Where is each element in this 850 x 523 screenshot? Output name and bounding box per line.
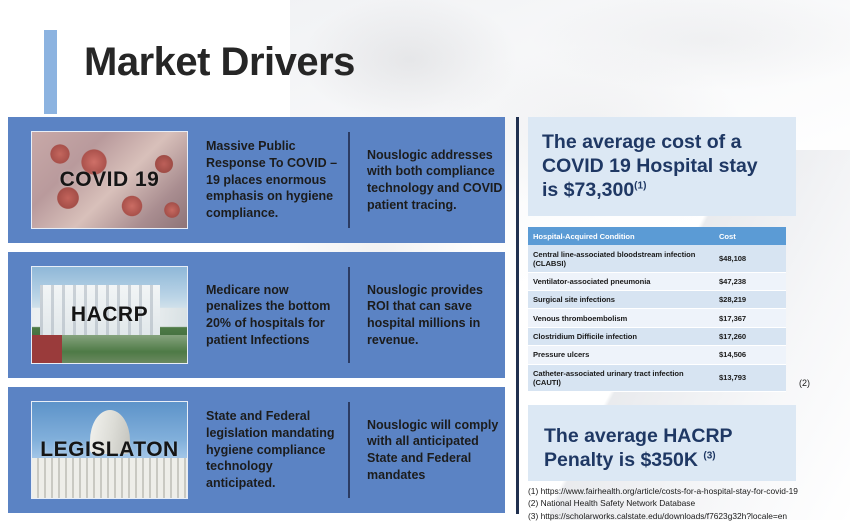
covid-cost-superscript: (1) — [634, 180, 646, 191]
covid-cost-line-3: is $73,300 — [542, 179, 634, 201]
covid-cost-line-1: The average cost of a — [542, 131, 741, 153]
footnote-3[interactable]: (3) https://scholarworks.calstate.edu/do… — [528, 510, 850, 523]
table-header-row: Hospital-Acquired Condition Cost — [528, 227, 786, 245]
column-header-cost: Cost — [714, 227, 786, 245]
footnote-1[interactable]: (1) https://www.fairhealth.org/article/c… — [528, 485, 850, 498]
hospital-acquired-condition-cost-table: Hospital-Acquired Condition Cost Central… — [528, 227, 786, 392]
table-row: Catheter-associated urinary tract infect… — [528, 364, 786, 391]
table-row: Central line-associated bloodstream infe… — [528, 245, 786, 272]
thumb-label: LEGISLATON — [40, 438, 178, 462]
table-row: Ventilator-associated pneumonia $47,238 — [528, 272, 786, 290]
footnotes-list: (1) https://www.fairhealth.org/article/c… — [528, 485, 850, 523]
cell-cost: $47,238 — [714, 272, 786, 290]
slide-header: Market Drivers — [0, 0, 850, 115]
driver-description: State and Federal legislation mandating … — [206, 408, 344, 491]
covid-cost-line-2: COVID 19 Hospital stay — [542, 155, 758, 177]
hacrp-line-2: Penalty is $350K — [544, 449, 698, 471]
driver-card-hacrp[interactable]: HACRP Medicare now penalizes the bottom … — [8, 252, 505, 378]
cell-cost: $48,108 — [714, 245, 786, 272]
cell-condition: Clostridium Difficile infection — [528, 327, 714, 345]
cell-cost: $17,260 — [714, 327, 786, 345]
column-separator — [516, 117, 519, 514]
covid-cost-stat-box: The average cost of a COVID 19 Hospital … — [528, 117, 796, 216]
hacrp-line-1: The average HACRP — [544, 425, 733, 447]
driver-solution: Nouslogic provides ROI that can save hos… — [367, 282, 507, 349]
table-row: Venous thromboembolism $17,367 — [528, 309, 786, 327]
hospital-building-photo: HACRP — [31, 266, 188, 364]
driver-divider — [348, 402, 350, 498]
hacrp-penalty-stat-text: The average HACRP Penalty is $350K (3) — [544, 425, 784, 473]
table-footnote-marker: (2) — [799, 378, 810, 388]
covid-cost-stat-text: The average cost of a COVID 19 Hospital … — [542, 131, 784, 202]
table-row: Surgical site infections $28,219 — [528, 291, 786, 309]
covid-virus-photo: COVID 19 — [31, 131, 188, 229]
column-header-condition: Hospital-Acquired Condition — [528, 227, 714, 245]
thumb-label: HACRP — [71, 303, 148, 327]
hacrp-penalty-stat-box: The average HACRP Penalty is $350K (3) — [528, 405, 796, 481]
page-title: Market Drivers — [84, 40, 355, 85]
table-row: Clostridium Difficile infection $17,260 — [528, 327, 786, 345]
driver-card-legislation[interactable]: LEGISLATON State and Federal legislation… — [8, 387, 505, 513]
statistics-panel: The average cost of a COVID 19 Hospital … — [528, 117, 850, 523]
cell-condition: Pressure ulcers — [528, 346, 714, 364]
table-row: Pressure ulcers $14,506 — [528, 346, 786, 364]
thumb-label: COVID 19 — [60, 168, 160, 192]
cell-condition: Catheter-associated urinary tract infect… — [528, 364, 714, 391]
cell-condition: Central line-associated bloodstream infe… — [528, 245, 714, 272]
us-capitol-photo: LEGISLATON — [31, 401, 188, 499]
title-accent-bar — [44, 30, 57, 114]
driver-card-covid[interactable]: COVID 19 Massive Public Response To COVI… — [8, 117, 505, 243]
hacrp-superscript: (3) — [703, 450, 715, 461]
driver-solution: Nouslogic addresses with both compliance… — [367, 147, 507, 214]
driver-description: Massive Public Response To COVID – 19 pl… — [206, 138, 344, 221]
cell-condition: Ventilator-associated pneumonia — [528, 272, 714, 290]
footnote-2: (2) National Health Safety Network Datab… — [528, 497, 850, 510]
cell-cost: $14,506 — [714, 346, 786, 364]
cell-cost: $13,793 — [714, 364, 786, 391]
cell-cost: $28,219 — [714, 291, 786, 309]
cell-condition: Surgical site infections — [528, 291, 714, 309]
driver-divider — [348, 267, 350, 363]
cost-table-wrapper: Hospital-Acquired Condition Cost Central… — [528, 227, 786, 392]
cell-condition: Venous thromboembolism — [528, 309, 714, 327]
driver-description: Medicare now penalizes the bottom 20% of… — [206, 282, 344, 349]
market-drivers-list: COVID 19 Massive Public Response To COVI… — [8, 117, 505, 522]
driver-solution: Nouslogic will comply with all anticipat… — [367, 417, 507, 484]
cell-cost: $17,367 — [714, 309, 786, 327]
driver-divider — [348, 132, 350, 228]
